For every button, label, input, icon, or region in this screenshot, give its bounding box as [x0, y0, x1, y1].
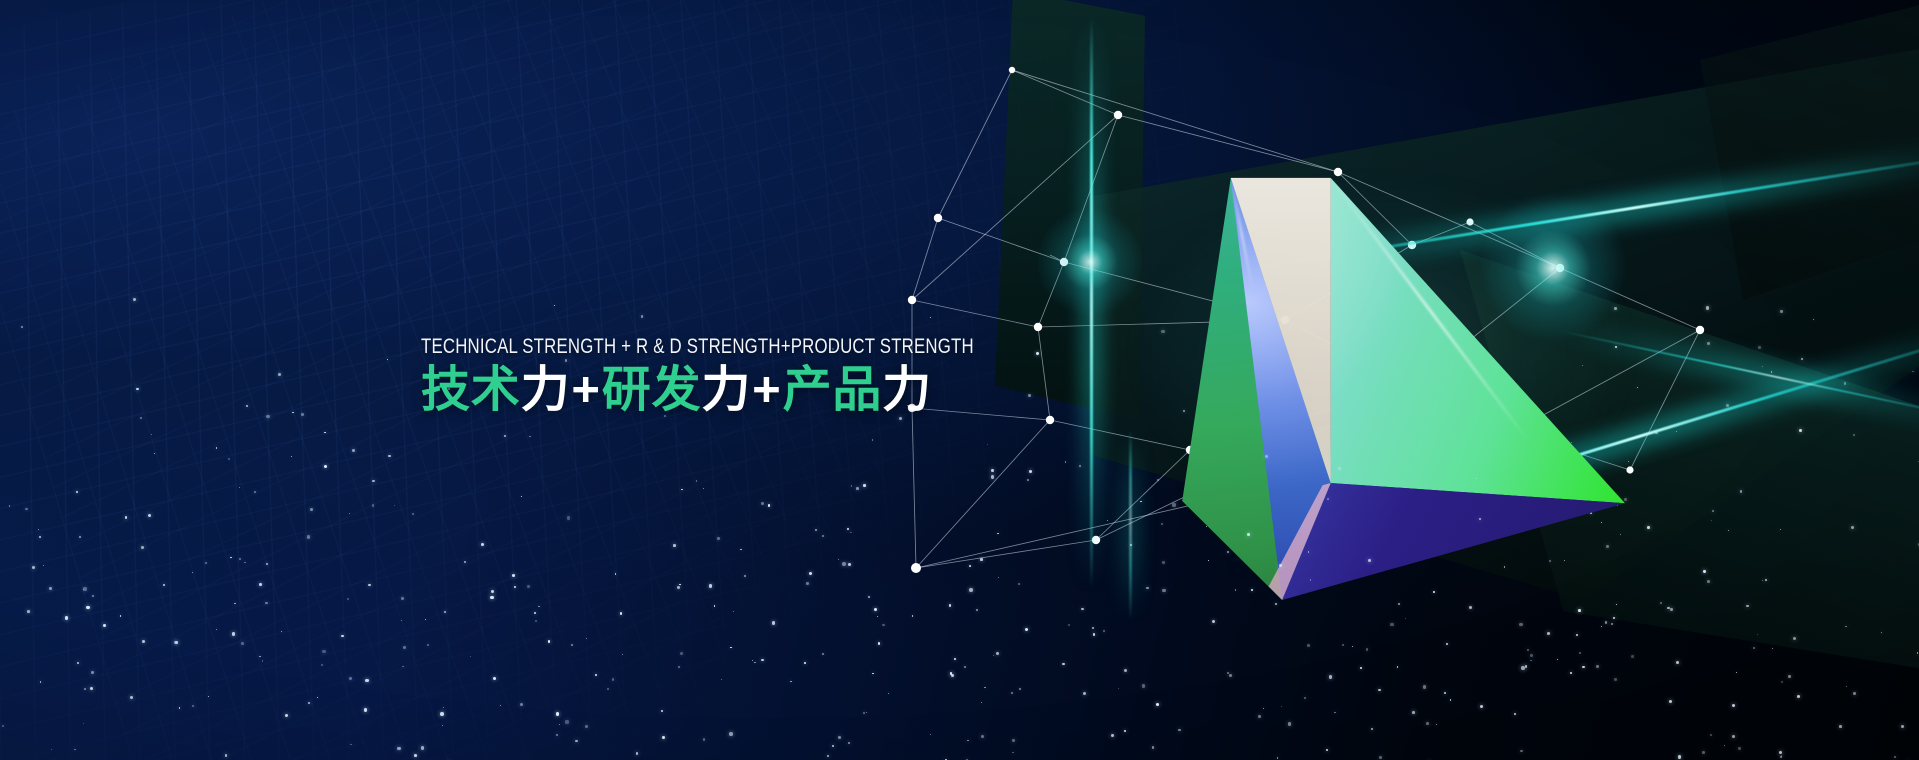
- page-title: 技术力+研发力+产品力: [421, 365, 1112, 417]
- 3d-arrow-prism: [1085, 150, 1625, 600]
- headline-seg-tech: 技术: [421, 363, 521, 417]
- headline-seg-li-3: 力: [882, 363, 932, 417]
- headline-seg-rnd: 研发: [602, 363, 702, 417]
- headline-seg-product: 产品: [783, 363, 883, 417]
- headline-plus-2: +: [751, 363, 782, 417]
- hero-eyebrow: TECHNICAL STRENGTH + R & D STRENGTH+PROD…: [421, 335, 974, 359]
- headline-seg-li-2: 力: [701, 363, 751, 417]
- hero-banner: TECHNICAL STRENGTH + R & D STRENGTH+PROD…: [0, 0, 1919, 760]
- hero-copy: TECHNICAL STRENGTH + R & D STRENGTH+PROD…: [421, 335, 1112, 417]
- headline-plus-1: +: [570, 363, 601, 417]
- headline-seg-li-1: 力: [521, 363, 571, 417]
